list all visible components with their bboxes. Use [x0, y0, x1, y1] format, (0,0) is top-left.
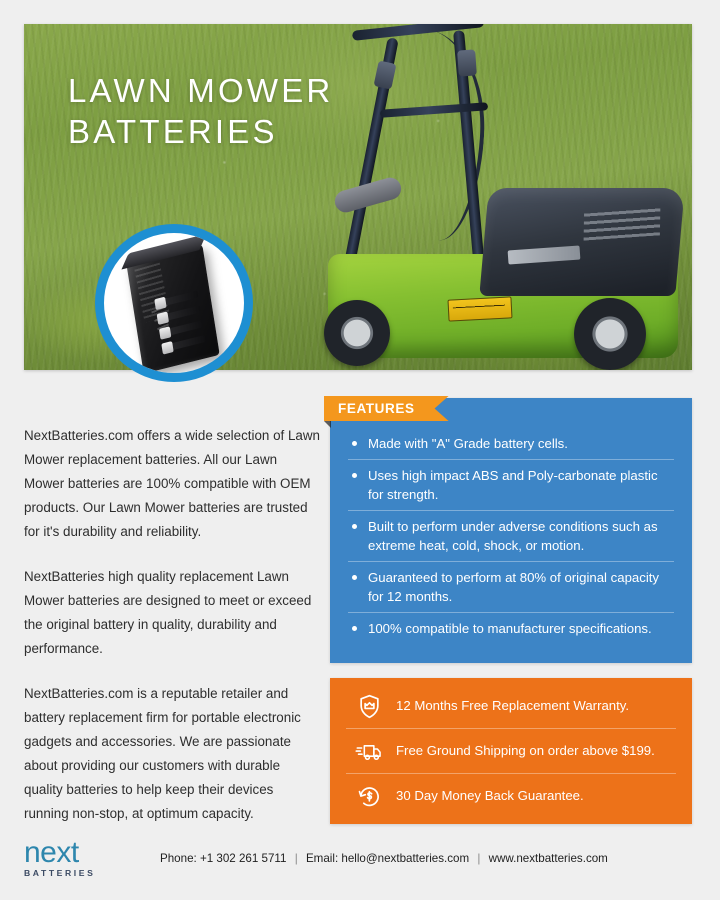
money-back-icon: [346, 783, 392, 810]
bullet-icon: [352, 524, 357, 529]
battery-pack-image: [126, 244, 219, 374]
feature-item: Built to perform under adverse condition…: [348, 511, 674, 562]
bullet-icon: [352, 441, 357, 446]
email-label[interactable]: Email: hello@nextbatteries.com: [306, 852, 469, 865]
contact-separator: |: [472, 852, 485, 865]
feature-item-text: Guaranteed to perform at 80% of original…: [368, 570, 659, 604]
features-ribbon-label: FEATURES: [324, 396, 449, 421]
mower-warning-label: [447, 296, 512, 321]
guarantee-item-warranty: 12 Months Free Replacement Warranty.: [346, 684, 676, 729]
guarantee-text: Free Ground Shipping on order above $199…: [392, 742, 655, 760]
description-paragraph-1: NextBatteries.com offers a wide selectio…: [24, 424, 320, 544]
feature-item: 100% compatible to manufacturer specific…: [348, 613, 674, 644]
delivery-truck-icon: [346, 738, 392, 765]
battery-product-inset: [95, 224, 253, 382]
mower-handle-clamp: [457, 49, 477, 76]
battery-top-face: [121, 234, 206, 270]
features-ribbon-shadow: [324, 421, 331, 428]
guarantee-panel: 12 Months Free Replacement Warranty. Fre…: [330, 678, 692, 824]
logo-wordmark: next: [24, 838, 120, 868]
mower-wheel-rear: [574, 298, 646, 370]
hero-title: LAWN MOWER BATTERIES: [68, 70, 333, 153]
website-label[interactable]: www.nextbatteries.com: [489, 852, 608, 865]
guarantee-text: 30 Day Money Back Guarantee.: [392, 787, 584, 805]
logo-subtitle: BATTERIES: [24, 869, 120, 878]
footer: next BATTERIES Phone: +1 302 261 5711 | …: [24, 834, 692, 882]
guarantee-item-shipping: Free Ground Shipping on order above $199…: [346, 729, 676, 774]
features-list: Made with "A" Grade battery cells. Uses …: [348, 428, 674, 644]
bullet-icon: [352, 575, 357, 580]
guarantee-text: 12 Months Free Replacement Warranty.: [392, 697, 629, 715]
phone-label: Phone: +1 302 261 5711: [160, 852, 286, 865]
mower-motor-vents: [584, 205, 661, 240]
description-copy: NextBatteries.com offers a wide selectio…: [24, 424, 320, 826]
feature-item: Made with "A" Grade battery cells.: [348, 428, 674, 460]
feature-item-text: Uses high impact ABS and Poly-carbonate …: [368, 468, 658, 502]
contact-separator: |: [290, 852, 303, 865]
features-panel: FEATURES Made with "A" Grade battery cel…: [330, 398, 692, 663]
contact-info: Phone: +1 302 261 5711 | Email: hello@ne…: [120, 852, 608, 865]
brand-logo[interactable]: next BATTERIES: [24, 838, 120, 878]
shield-crown-icon: [346, 693, 392, 720]
mower-wheel-front: [324, 300, 390, 366]
feature-item: Guaranteed to perform at 80% of original…: [348, 562, 674, 613]
bullet-icon: [352, 473, 357, 478]
battery-terminals: [155, 290, 211, 361]
feature-item-text: Made with "A" Grade battery cells.: [368, 436, 568, 451]
feature-item: Uses high impact ABS and Poly-carbonate …: [348, 460, 674, 511]
guarantee-item-money-back: 30 Day Money Back Guarantee.: [346, 774, 676, 818]
mower-motor-housing: [479, 188, 684, 296]
feature-item-text: Built to perform under adverse condition…: [368, 519, 658, 553]
bullet-icon: [352, 626, 357, 631]
feature-item-text: 100% compatible to manufacturer specific…: [368, 621, 652, 636]
description-paragraph-3: NextBatteries.com is a reputable retaile…: [24, 682, 320, 826]
description-paragraph-2: NextBatteries high quality replacement L…: [24, 565, 320, 661]
